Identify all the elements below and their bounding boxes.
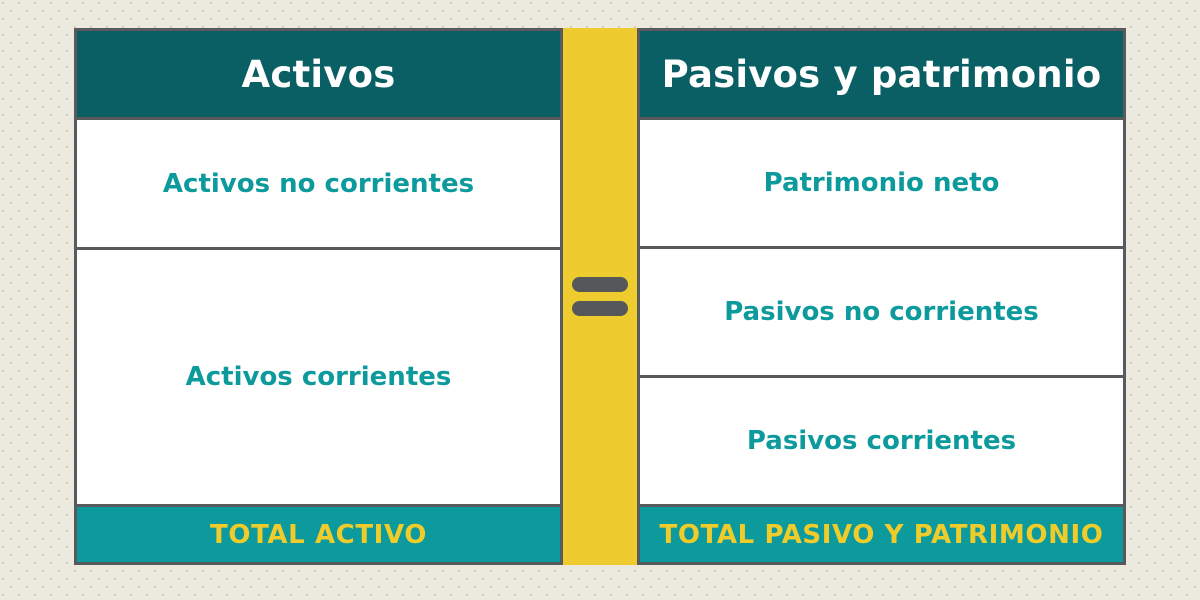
- cell-net-equity: Patrimonio neto: [640, 120, 1123, 246]
- cell-non-current-liabilities: Pasivos no corrientes: [640, 246, 1123, 375]
- equals-icon-bar-top: [572, 277, 628, 292]
- total-liabilities-equity-band: TOTAL PASIVO Y PATRIMONIO: [640, 504, 1123, 562]
- balance-sheet-diagram: Activos Activos no corrientes Activos co…: [74, 28, 1126, 565]
- cell-current-assets: Activos corrientes: [77, 247, 560, 504]
- equals-separator-column: [560, 28, 640, 565]
- liabilities-equity-column-header: Pasivos y patrimonio: [640, 31, 1123, 120]
- cell-current-liabilities: Pasivos corrientes: [640, 375, 1123, 504]
- equals-icon-bar-bottom: [572, 301, 628, 316]
- cell-non-current-assets: Activos no corrientes: [77, 120, 560, 247]
- liabilities-equity-column: Pasivos y patrimonio Patrimonio neto Pas…: [637, 28, 1126, 565]
- total-assets-band: TOTAL ACTIVO: [77, 504, 560, 562]
- assets-column-header: Activos: [77, 31, 560, 120]
- assets-column: Activos Activos no corrientes Activos co…: [74, 28, 563, 565]
